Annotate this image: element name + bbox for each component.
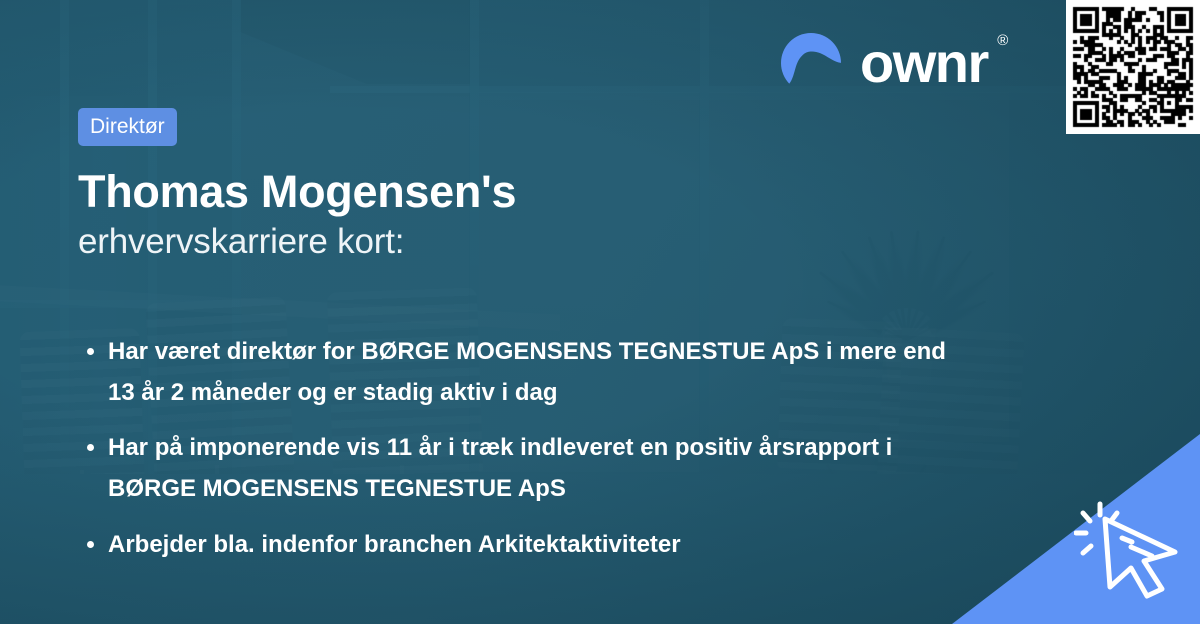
ownr-wordmark: ownr ® [860, 35, 988, 91]
ownr-circle-swoosh-icon [780, 32, 842, 94]
ownr-logo[interactable]: ownr ® [780, 32, 988, 94]
list-item: Arbejder bla. indenfor branchen Arkitekt… [78, 524, 978, 565]
page-title: Thomas Mogensen's [78, 167, 978, 217]
qr-code-icon[interactable] [1066, 0, 1200, 134]
click-cursor-icon [1074, 494, 1186, 602]
registered-trademark-mark: ® [997, 33, 1007, 48]
card-content: Direktør Thomas Mogensen's erhvervskarri… [78, 108, 978, 565]
list-item: Har været direktør for BØRGE MOGENSENS T… [78, 331, 978, 414]
role-badge: Direktør [78, 108, 177, 146]
career-highlights-list: Har været direktør for BØRGE MOGENSENS T… [78, 331, 978, 565]
list-item: Har på imponerende vis 11 år i træk indl… [78, 427, 978, 510]
business-card: ownr ® Direktør Thomas Mogensen's erhver… [0, 0, 1200, 624]
page-subtitle: erhvervskarriere kort: [78, 221, 978, 262]
ownr-wordmark-text: ownr [860, 31, 988, 94]
